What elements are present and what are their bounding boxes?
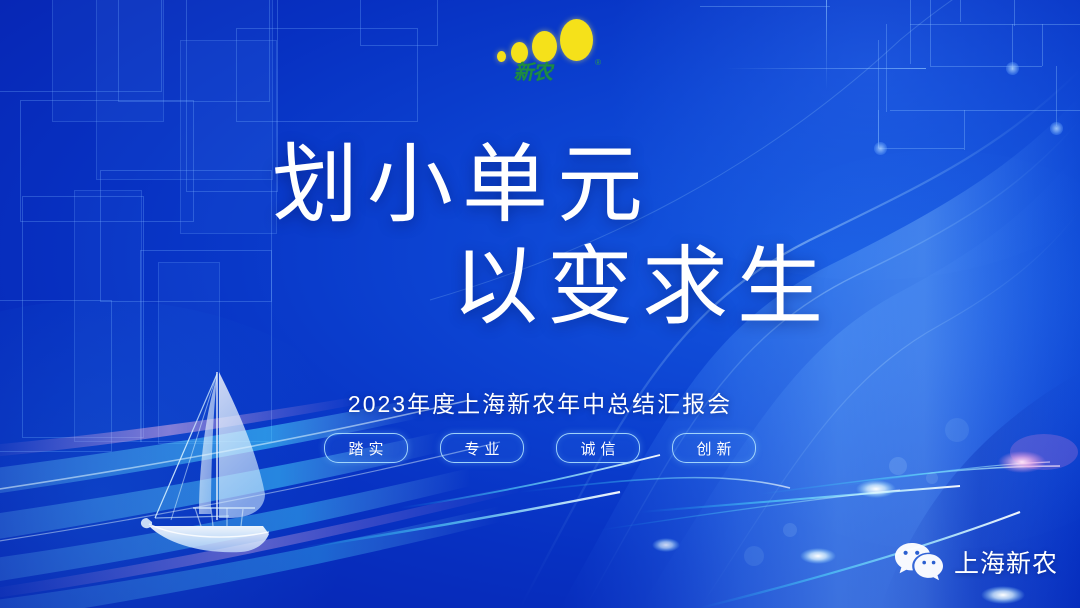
logo-dot-3 xyxy=(532,31,557,62)
event-subtitle: 2023年度上海新农年中总结汇报会 xyxy=(0,385,1080,419)
wechat-badge: 上海新农 xyxy=(893,541,1058,583)
logo-wordmark-text: 新农 xyxy=(512,60,580,86)
headline: 划小单元 以变求生 xyxy=(0,140,1080,333)
headline-line-2: 以变求生 xyxy=(0,242,1080,332)
poster-canvas: 新农 ® 划小单元 以变求生 2023年度上海新农年中总结汇报会 踏实 专业 诚… xyxy=(0,0,1080,608)
value-tag-shishi: 踏实 xyxy=(324,433,408,463)
value-tag-zhuanye: 专业 xyxy=(440,433,524,463)
value-tag-list: 踏实 专业 诚信 创新 xyxy=(0,433,1080,463)
logo-trademark-symbol: ® xyxy=(595,58,601,67)
logo-dot-4 xyxy=(560,19,593,61)
headline-line-1: 划小单元 xyxy=(0,140,1080,230)
value-tag-chuangxin: 创新 xyxy=(672,433,756,463)
value-tag-chengxin: 诚信 xyxy=(556,433,640,463)
wechat-icon xyxy=(893,541,945,583)
logo-dot-1 xyxy=(497,51,506,62)
wechat-account-name: 上海新农 xyxy=(954,544,1058,580)
brand-logo: 新农 ® xyxy=(497,18,597,94)
logo-wordmark: 新农 xyxy=(515,60,577,86)
